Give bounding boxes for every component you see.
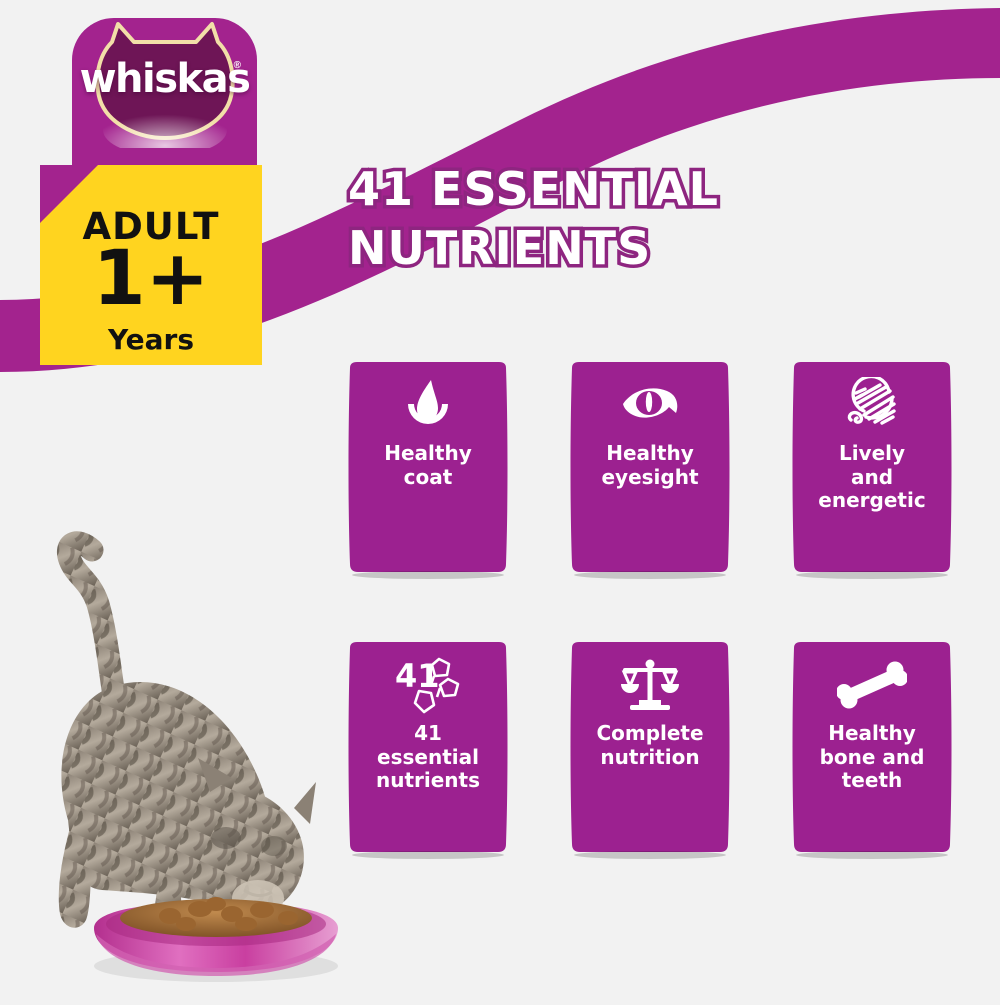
product-infographic: whiskas ® ADULT 1+ Years 41 ESSENTIAL NU… [0, 0, 1000, 1000]
benefit-bag-bone-teeth[interactable]: Healthybone andteeth [784, 638, 960, 862]
logo-wordmark-text: whiskas [72, 56, 257, 102]
benefit-caption: 41essentialnutrients [348, 722, 508, 793]
benefit-caption: Healthycoat [348, 442, 508, 489]
cat-eye-icon [619, 376, 681, 434]
registered-trademark-icon: ® [234, 60, 241, 71]
benefit-caption: Livelyandenergetic [792, 442, 952, 513]
yarn-ball-icon [842, 376, 902, 434]
benefit-caption: Healthyeyesight [570, 442, 730, 489]
bone-icon [837, 656, 907, 714]
age-badge-age: 1+ [40, 240, 262, 316]
page-title-line1: 41 ESSENTIAL [348, 160, 908, 219]
page-title: 41 ESSENTIAL NUTRIENTS [348, 160, 908, 278]
balance-scales-icon [617, 656, 683, 714]
benefit-bag-lively-energetic[interactable]: Livelyandenergetic [784, 358, 960, 582]
molecule-41-icon: 41 [393, 656, 463, 714]
benefit-bag-grid: Healthycoat Healthyeyesight [340, 358, 960, 878]
tabby-cat-illustration [10, 520, 370, 1000]
benefit-bag-complete-nutrition[interactable]: Completenutrition [562, 638, 738, 862]
age-badge: ADULT 1+ Years [40, 165, 262, 365]
water-droplet-icon [404, 376, 452, 434]
page-title-line2: NUTRIENTS [348, 219, 908, 278]
cat-eating-photo [10, 520, 370, 1000]
benefit-caption: Completenutrition [570, 722, 730, 769]
benefit-caption: Healthybone andteeth [792, 722, 952, 793]
benefit-bag-healthy-eyesight[interactable]: Healthyeyesight [562, 358, 738, 582]
age-badge-years: Years [40, 323, 262, 356]
